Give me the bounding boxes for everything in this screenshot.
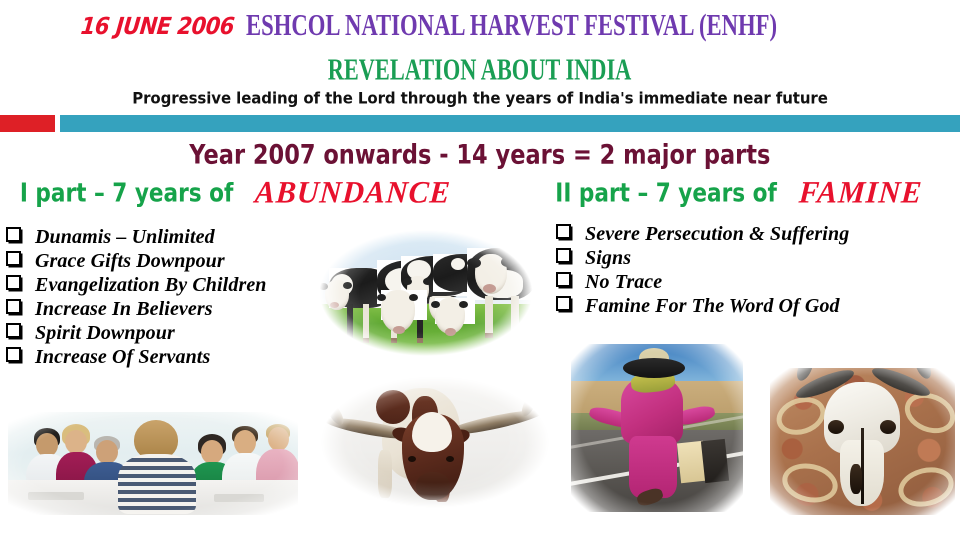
list-item: Evangelization By Children <box>6 275 267 296</box>
header-subtitle-row: REVELATION ABOUT INDIA <box>0 55 960 85</box>
year-summary-line: Year 2007 onwards - 14 years = 2 major p… <box>0 140 960 169</box>
list-item: Increase Of Servants <box>6 347 267 368</box>
checkbox-square-icon <box>6 251 21 266</box>
checkbox-square-icon <box>556 248 571 263</box>
checkbox-square-icon <box>6 275 21 290</box>
list-item: Spirit Downpour <box>6 323 267 344</box>
page-subtitle: REVELATION ABOUT INDIA <box>328 53 632 88</box>
longhorn-bull-photo <box>316 372 554 512</box>
divider-accent-teal <box>60 115 960 132</box>
list-item-label: No Trace <box>585 272 662 293</box>
checkbox-square-icon <box>6 347 21 362</box>
part-heading-abundance: I part – 7 years ofABUNDANCE <box>8 176 451 210</box>
header-title-row: 16 JUNE 2006ESHCOL NATIONAL HARVEST FEST… <box>0 10 960 41</box>
list-item: Famine For The Word Of God <box>556 296 849 317</box>
checkbox-square-icon <box>6 323 21 338</box>
herd-of-cows-photo <box>315 226 537 360</box>
checkbox-square-icon <box>556 296 571 311</box>
list-item-label: Grace Gifts Downpour <box>35 251 225 272</box>
page-tagline: Progressive leading of the Lord through … <box>132 89 828 108</box>
list-item: Grace Gifts Downpour <box>6 251 267 272</box>
list-item: Signs <box>556 248 849 269</box>
page-title: ESHCOL NATIONAL HARVEST FESTIVAL (ENHF) <box>246 8 777 43</box>
checkbox-square-icon <box>556 224 571 239</box>
list-item-label: Spirit Downpour <box>35 323 175 344</box>
list-item-label: Famine For The Word Of God <box>585 296 840 317</box>
famine-bullet-list: Severe Persecution & Suffering Signs No … <box>556 224 849 320</box>
list-item: No Trace <box>556 272 849 293</box>
slide-canvas: 16 JUNE 2006ESHCOL NATIONAL HARVEST FEST… <box>0 0 960 540</box>
group-meeting-photo <box>8 412 298 515</box>
list-item: Dunamis – Unlimited <box>6 227 267 248</box>
list-item-label: Increase In Believers <box>35 299 213 320</box>
year-summary-text: Year 2007 onwards - 14 years = 2 major p… <box>189 139 770 170</box>
part-heading-prefix: II part – 7 years of <box>555 178 777 208</box>
list-item-label: Severe Persecution & Suffering <box>585 224 849 245</box>
list-item: Severe Persecution & Suffering <box>556 224 849 245</box>
part-heading-keyword: FAMINE <box>788 175 924 210</box>
list-item-label: Evangelization By Children <box>35 275 267 296</box>
list-item: Increase In Believers <box>6 299 267 320</box>
list-item-label: Increase Of Servants <box>35 347 210 368</box>
cattle-skull-photo <box>770 368 955 515</box>
part-heading-famine: II part – 7 years ofFAMINE <box>543 176 922 210</box>
divider-accent-red <box>0 115 55 132</box>
part-heading-prefix: I part – 7 years of <box>20 178 234 208</box>
event-date: 16 JUNE 2006 <box>80 12 248 39</box>
list-item-label: Signs <box>585 248 631 269</box>
checkbox-square-icon <box>6 227 21 242</box>
woman-walking-road-photo <box>571 344 743 512</box>
checkbox-square-icon <box>556 272 571 287</box>
checkbox-square-icon <box>6 299 21 314</box>
header-tagline-row: Progressive leading of the Lord through … <box>0 89 960 108</box>
list-item-label: Dunamis – Unlimited <box>35 227 215 248</box>
abundance-bullet-list: Dunamis – Unlimited Grace Gifts Downpour… <box>6 227 267 371</box>
part-heading-keyword: ABUNDANCE <box>244 175 452 210</box>
